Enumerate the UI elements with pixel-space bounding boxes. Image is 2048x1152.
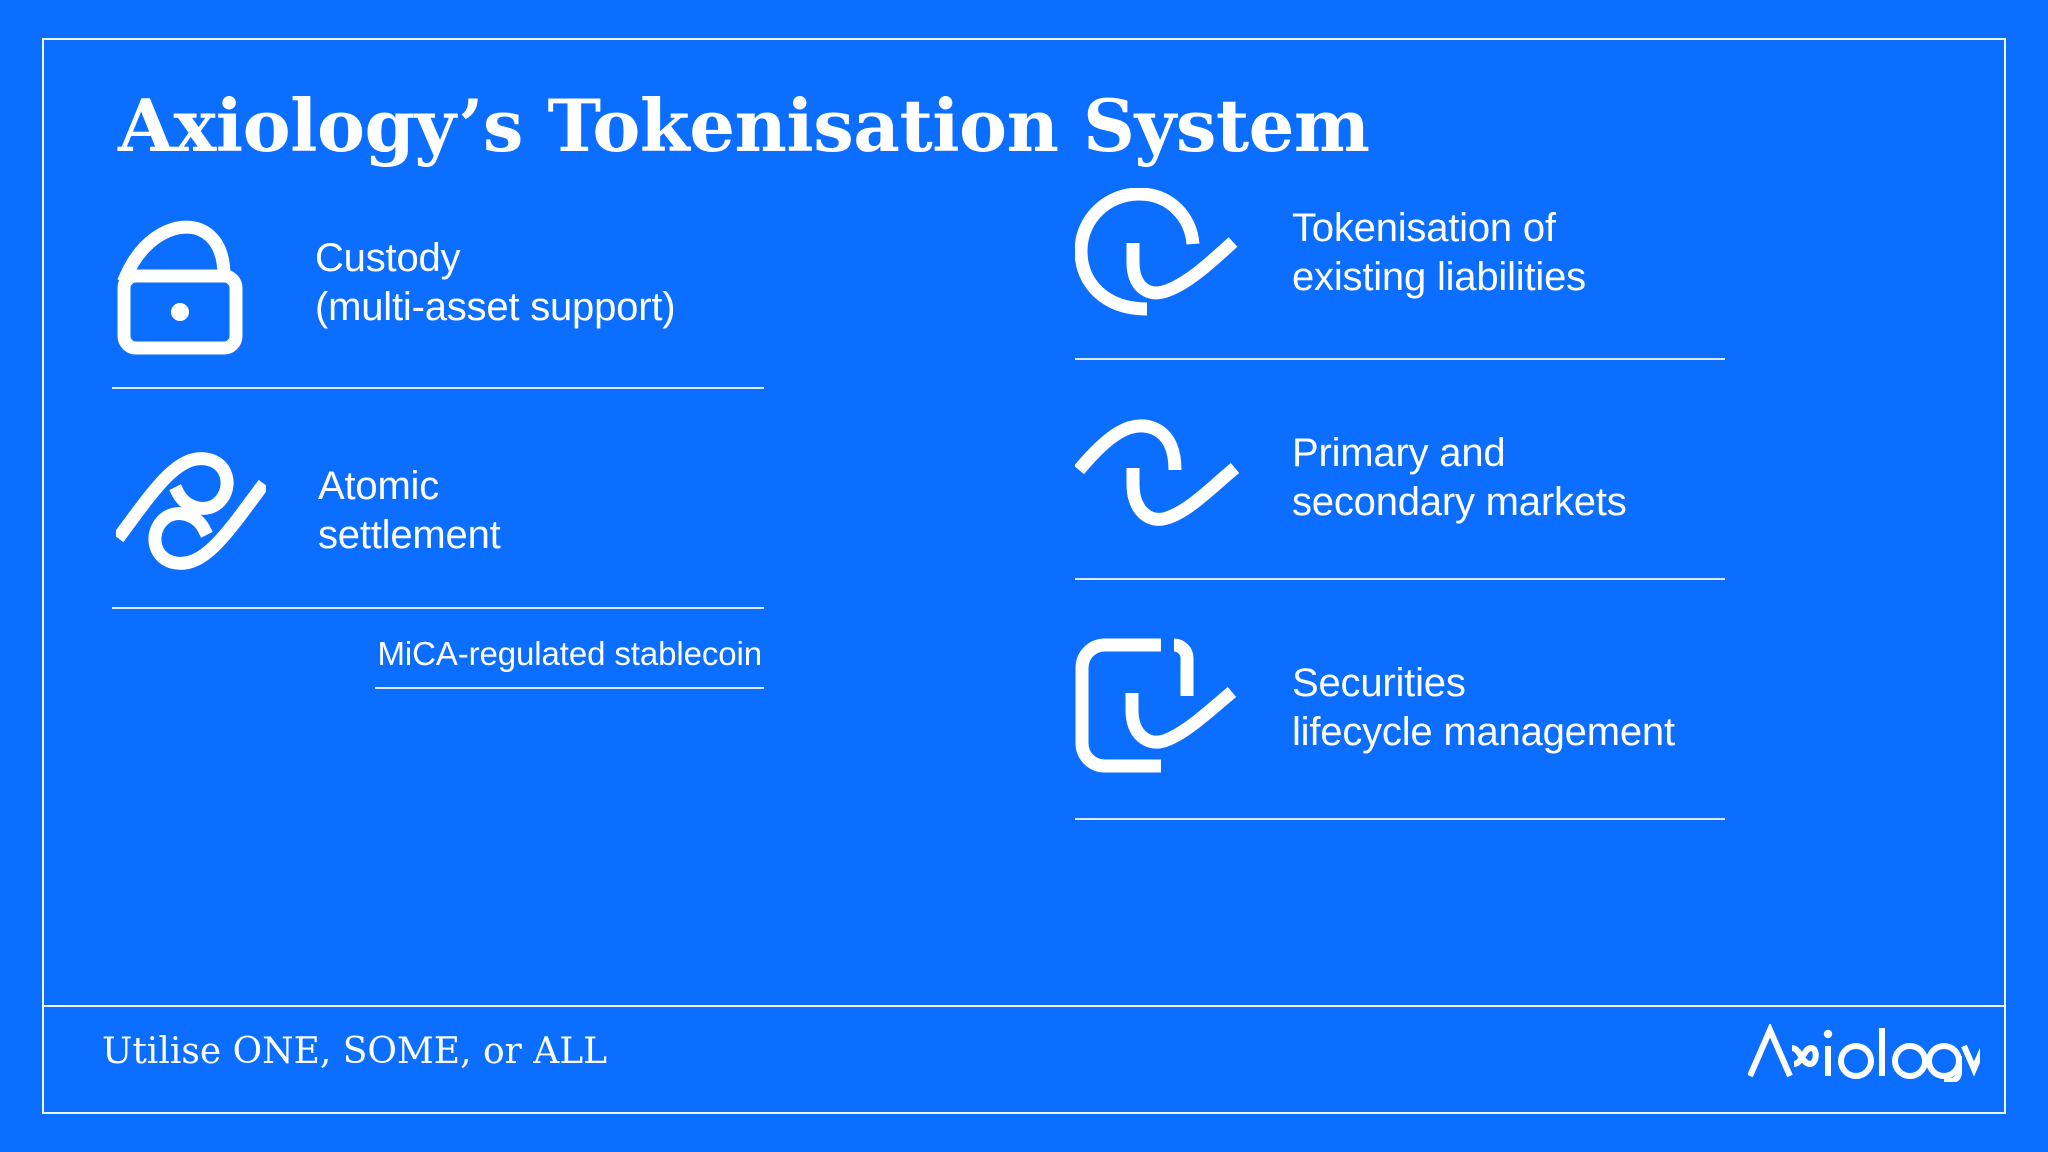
atomic-swirl-icon	[116, 441, 266, 581]
square-bracket-swoosh-icon	[1075, 638, 1240, 778]
footer-tagline: Utilise ONE, SOME, or ALL	[102, 1031, 607, 1072]
left-feature-column: Custody (multi-asset support) Atomic set…	[112, 210, 952, 689]
divider-right-3	[1075, 818, 1725, 820]
divider-left-1	[112, 387, 764, 389]
mica-note-row: MiCA-regulated stablecoin	[112, 635, 764, 689]
spacer	[1075, 360, 1945, 418]
feature-custody: Custody (multi-asset support)	[112, 210, 952, 355]
feature-custody-label: Custody (multi-asset support)	[315, 234, 675, 332]
feature-tokenisation-liabilities-label: Tokenisation of existing liabilities	[1292, 204, 1586, 302]
divider-left-2	[112, 607, 764, 609]
right-feature-column: Tokenisation of existing liabilities Pri…	[1075, 188, 1945, 820]
page-title: Axiology’s Tokenisation System	[118, 90, 1370, 162]
wave-curve-icon	[1075, 418, 1240, 538]
feature-primary-secondary-markets-label: Primary and secondary markets	[1292, 429, 1627, 527]
slide-canvas: Axiology’s Tokenisation System Custody (…	[0, 0, 2048, 1152]
feature-securities-lifecycle-label: Securities lifecycle management	[1292, 659, 1675, 757]
circle-swoosh-icon	[1075, 188, 1240, 318]
feature-atomic-settlement: Atomic settlement	[112, 441, 952, 581]
footer-divider	[44, 1005, 2004, 1007]
feature-securities-lifecycle: Securities lifecycle management	[1075, 638, 1945, 778]
feature-primary-secondary-markets: Primary and secondary markets	[1075, 418, 1945, 538]
axiology-logo	[1748, 1024, 1980, 1082]
open-padlock-icon	[116, 210, 251, 355]
mica-stablecoin-label: MiCA-regulated stablecoin	[375, 635, 764, 689]
feature-tokenisation-liabilities: Tokenisation of existing liabilities	[1075, 188, 1945, 318]
feature-atomic-settlement-label: Atomic settlement	[318, 462, 501, 560]
spacer	[1075, 580, 1945, 638]
